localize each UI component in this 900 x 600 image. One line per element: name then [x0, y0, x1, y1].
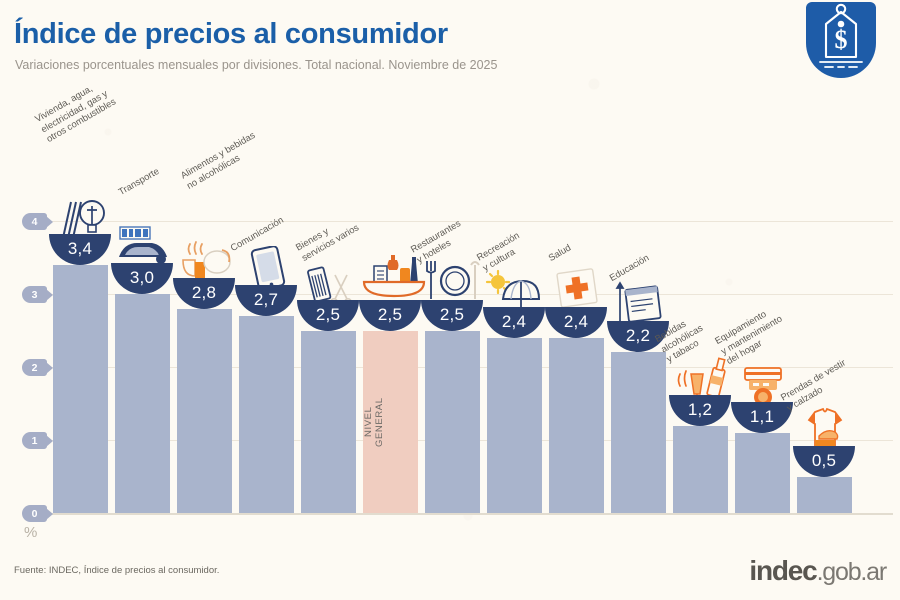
bar-bienes[interactable]	[301, 331, 356, 513]
wine-bottle-glass-icon	[669, 354, 731, 394]
bar-nivel-general-label: NIVEL GENERAL	[363, 377, 418, 467]
bar-educacion[interactable]	[611, 352, 666, 513]
gridline-4	[48, 221, 893, 222]
axis-tick-4: 4	[22, 213, 47, 230]
category-label-alimentos: Alimentos y bebidas no alcohólicas	[179, 129, 263, 191]
value-bowl-nivel-general: 2,5	[359, 300, 421, 331]
value-bowl-bebidas: 1,2	[669, 395, 731, 426]
notebook-pencil-icon	[607, 280, 669, 320]
svg-text:$: $	[835, 25, 848, 54]
bar-salud[interactable]	[549, 338, 604, 513]
plate-cutlery-icon	[421, 257, 483, 297]
axis-tick-0: 0	[22, 505, 47, 522]
axis-tick-3: 3	[22, 286, 47, 303]
value-bowl-prendas: 0,5	[793, 446, 855, 477]
mixed-basket-icon	[356, 252, 418, 292]
page-subtitle: Variaciones porcentuales mensuales por d…	[15, 58, 497, 72]
bar-recreacion[interactable]	[487, 338, 542, 513]
header: Índice de precios al consumidor Variacio…	[0, 0, 900, 92]
bar-bebidas[interactable]	[673, 426, 728, 513]
axis-tick-1: 1	[22, 432, 47, 449]
indec-wordmark[interactable]: indec.gob.ar	[749, 555, 886, 587]
value-bowl-comunicacion: 2,7	[235, 285, 297, 316]
price-tag-shield-icon: $	[806, 2, 876, 78]
category-label-bienes: Bienes y servicios varios	[294, 211, 361, 263]
bar-nivel-general[interactable]: NIVEL GENERAL	[363, 331, 418, 513]
value-bowl-recreacion: 2,4	[483, 307, 545, 338]
indec-wordmark-suffix: .gob.ar	[817, 558, 886, 586]
axis-unit-label: %	[24, 524, 37, 541]
axis-baseline	[48, 513, 893, 515]
value-bowl-equipamiento: 1,1	[731, 402, 793, 433]
footer: Fuente: INDEC, Índice de precios al cons…	[0, 547, 900, 600]
value-bowl-restaurantes: 2,5	[421, 300, 483, 331]
bar-alimentos[interactable]	[177, 309, 232, 513]
car-icon	[111, 223, 173, 263]
value-bowl-salud: 2,4	[545, 307, 607, 338]
value-bowl-bienes: 2,5	[297, 300, 359, 331]
indec-wordmark-main: indec	[749, 555, 816, 586]
category-label-equipamiento: Equipamiento y mantenimiento del hogar	[713, 302, 790, 366]
value-bowl-transporte: 3,0	[111, 263, 173, 294]
value-bowl-alimentos: 2,8	[173, 278, 235, 309]
category-label-transporte: Transporte	[116, 165, 161, 197]
bar-equipamiento[interactable]	[735, 433, 790, 513]
bar-restaurantes[interactable]	[425, 331, 480, 513]
bar-comunicacion[interactable]	[239, 316, 294, 513]
tshirt-shoe-icon	[793, 406, 855, 446]
bar-prendas[interactable]	[797, 477, 852, 513]
category-label-salud: Salud	[546, 242, 573, 264]
groceries-icon	[173, 238, 235, 278]
beach-umbrella-icon	[483, 269, 545, 309]
bar-transporte[interactable]	[115, 294, 170, 513]
lightbulb-icon	[49, 196, 111, 236]
chart-plot-area: 4 3 2 1 0 % NIVEL GENERAL 3,4	[0, 92, 900, 547]
medical-cross-icon	[545, 266, 607, 306]
comb-scissors-icon	[297, 261, 359, 301]
axis-tick-2: 2	[22, 359, 47, 376]
category-label-educacion: Educación	[607, 252, 651, 284]
bar-vivienda[interactable]	[53, 265, 108, 513]
page-title: Índice de precios al consumidor	[14, 18, 448, 51]
value-bowl-vivienda: 3,4	[49, 234, 111, 265]
smartphone-icon	[235, 246, 297, 286]
source-note: Fuente: INDEC, Índice de precios al cons…	[14, 565, 219, 576]
category-label-recreacion: Recreación y cultura	[475, 229, 528, 273]
